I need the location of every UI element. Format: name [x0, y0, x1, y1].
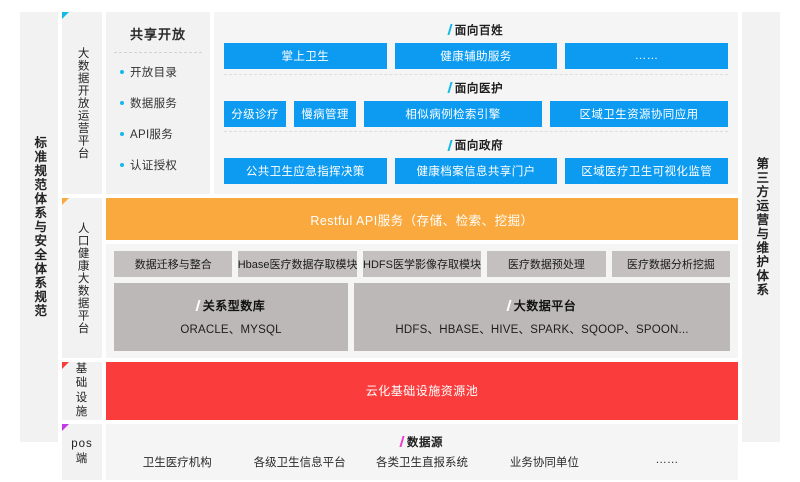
app-chip[interactable]: 区域医疗卫生可视化监管: [565, 158, 728, 184]
app-chip-more[interactable]: ……: [565, 43, 728, 69]
app-chip[interactable]: 相似病例检索引擎: [364, 101, 542, 127]
band-label-text: 大数据开放运营平台: [75, 47, 88, 160]
module-box[interactable]: 医疗数据分析挖掘: [612, 251, 730, 277]
left-rail-label: 标准规范体系与安全体系规范: [33, 136, 46, 318]
source-item[interactable]: 各级卫生信息平台: [238, 454, 360, 470]
app-chip[interactable]: 公共卫生应急指挥决策: [224, 158, 387, 184]
band-label-text: pos端: [71, 437, 93, 466]
bullet-dot-icon: [120, 101, 124, 105]
app-row: 分级诊疗 慢病管理 相似病例检索引擎 区域卫生资源协同应用: [224, 101, 728, 127]
list-item[interactable]: 数据服务: [120, 95, 202, 111]
list-item-label: 数据服务: [130, 95, 177, 111]
app-chip[interactable]: 区域卫生资源协同应用: [550, 101, 728, 127]
band-label-health-bigdata: 人口健康大数据平台: [62, 198, 102, 358]
slash-accent-icon: [447, 82, 452, 93]
list-item[interactable]: 开放目录: [120, 64, 202, 80]
store-body: ORACLE、MYSQL: [180, 321, 281, 337]
slash-accent-icon: [399, 436, 404, 447]
band-pos-terminal: pos端 数据源 卫生医疗机构 各级卫生信息平台 各类卫生直报系统 业务协同单位…: [62, 424, 738, 480]
source-row: 卫生医疗机构 各级卫生信息平台 各类卫生直报系统 业务协同单位 ……: [116, 454, 728, 470]
source-item-more[interactable]: ……: [606, 454, 728, 470]
list-item-label: 开放目录: [130, 64, 177, 80]
app-chip[interactable]: 健康辅助服务: [395, 43, 558, 69]
store-title-wrap: 大数据平台: [508, 297, 577, 314]
module-row: 数据迁移与整合 Hbase医疗数据存取模块 HDFS医学影像存取模块 医疗数据预…: [114, 251, 730, 277]
corner-marker-icon: [62, 198, 69, 205]
band-label-text: 人口健康大数据平台: [75, 222, 88, 335]
bullet-dot-icon: [120, 70, 124, 74]
list-item[interactable]: API服务: [120, 126, 202, 142]
app-row: 掌上卫生 健康辅助服务 ……: [224, 43, 728, 69]
app-group-title: 面向医护: [455, 80, 503, 96]
slash-accent-icon: [506, 300, 511, 311]
app-chip[interactable]: 健康档案信息共享门户: [395, 158, 558, 184]
app-group-medical: 面向医护 分级诊疗 慢病管理 相似病例检索引擎 区域卫生资源协同应用: [224, 75, 728, 133]
left-rail-standards: 标准规范体系与安全体系规范: [20, 12, 58, 442]
store-title: 大数据平台: [514, 297, 577, 314]
list-item-label: 认证授权: [130, 157, 177, 173]
corner-marker-icon: [62, 12, 69, 19]
slash-accent-icon: [195, 300, 200, 311]
module-box[interactable]: 数据迁移与整合: [114, 251, 232, 277]
data-source-heading: 数据源: [116, 434, 728, 450]
band-health-bigdata: 人口健康大数据平台 Restful API服务（存储、检索、挖掘） 数据迁移与整…: [62, 198, 738, 358]
cloud-infrastructure-pool-bar[interactable]: 云化基础设施资源池: [106, 362, 738, 420]
store-title: 关系型数库: [203, 297, 266, 314]
corner-marker-icon: [62, 362, 69, 369]
right-rail-third-party: 第三方运营与维护体系: [742, 12, 780, 442]
slash-accent-icon: [447, 140, 452, 151]
source-item[interactable]: 各类卫生直报系统: [361, 454, 483, 470]
slash-accent-icon: [447, 24, 452, 35]
data-source-panel: 数据源 卫生医疗机构 各级卫生信息平台 各类卫生直报系统 业务协同单位 ……: [106, 424, 738, 480]
band-open-platform: 大数据开放运营平台 共享开放 开放目录 数据服务: [62, 12, 738, 194]
data-source-title: 数据源: [407, 434, 443, 450]
app-chip[interactable]: 分级诊疗: [224, 101, 286, 127]
layer-stack: 大数据开放运营平台 共享开放 开放目录 数据服务: [62, 12, 738, 442]
store-row: 关系型数库 ORACLE、MYSQL 大数据平台 HDFS、HBASE、HIVE…: [114, 283, 730, 351]
app-group-title: 面向百姓: [455, 22, 503, 38]
share-open-list: 开放目录 数据服务 API服务 认证授权: [114, 53, 202, 186]
module-box[interactable]: 医疗数据预处理: [487, 251, 605, 277]
band-label-infrastructure: 基础设施: [62, 362, 102, 420]
corner-marker-icon: [62, 424, 69, 431]
app-row: 公共卫生应急指挥决策 健康档案信息共享门户 区域医疗卫生可视化监管: [224, 158, 728, 184]
source-item[interactable]: 卫生医疗机构: [116, 454, 238, 470]
app-group-heading: 面向百姓: [224, 22, 728, 38]
app-group-title: 面向政府: [455, 137, 503, 153]
app-group-heading: 面向政府: [224, 137, 728, 153]
band-label-open-platform: 大数据开放运营平台: [62, 12, 102, 194]
data-platform-panel: 数据迁移与整合 Hbase医疗数据存取模块 HDFS医学影像存取模块 医疗数据预…: [106, 244, 738, 358]
store-body: HDFS、HBASE、HIVE、SPARK、SQOOP、SPOON...: [395, 321, 688, 337]
share-open-panel: 共享开放 开放目录 数据服务 API服务: [106, 12, 210, 194]
bullet-dot-icon: [120, 132, 124, 136]
application-panel: 面向百姓 掌上卫生 健康辅助服务 …… 面向医护: [214, 12, 738, 194]
store-title-wrap: 关系型数库: [197, 297, 266, 314]
list-item[interactable]: 认证授权: [120, 157, 202, 173]
band-infrastructure: 基础设施 云化基础设施资源池: [62, 362, 738, 420]
app-group-heading: 面向医护: [224, 80, 728, 96]
app-chip[interactable]: 掌上卫生: [224, 43, 387, 69]
module-box[interactable]: Hbase医疗数据存取模块: [238, 251, 356, 277]
restful-api-bar[interactable]: Restful API服务（存储、检索、挖掘）: [106, 198, 738, 240]
app-chip[interactable]: 慢病管理: [294, 101, 356, 127]
module-box[interactable]: HDFS医学影像存取模块: [363, 251, 481, 277]
architecture-diagram: 标准规范体系与安全体系规范 大数据开放运营平台 共享开放 开放目录: [0, 0, 800, 482]
list-item-label: API服务: [130, 126, 173, 142]
app-group-public: 面向百姓 掌上卫生 健康辅助服务 ……: [224, 17, 728, 75]
bullet-dot-icon: [120, 163, 124, 167]
band-label-text: 基础设施: [71, 362, 93, 420]
right-rail-label: 第三方运营与维护体系: [755, 157, 768, 297]
source-item[interactable]: 业务协同单位: [483, 454, 605, 470]
store-relational-db[interactable]: 关系型数库 ORACLE、MYSQL: [114, 283, 348, 351]
share-open-title: 共享开放: [114, 24, 202, 53]
store-bigdata-platform[interactable]: 大数据平台 HDFS、HBASE、HIVE、SPARK、SQOOP、SPOON.…: [354, 283, 730, 351]
band-label-pos-terminal: pos端: [62, 424, 102, 480]
app-group-government: 面向政府 公共卫生应急指挥决策 健康档案信息共享门户 区域医疗卫生可视化监管: [224, 132, 728, 189]
